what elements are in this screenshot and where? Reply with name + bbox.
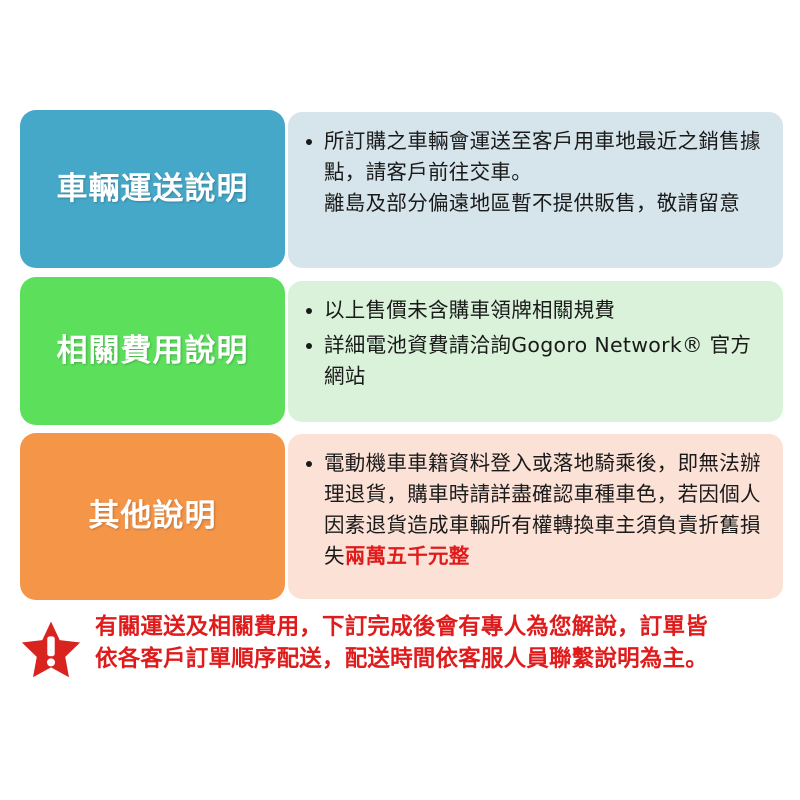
bullet-list: 電動機車車籍資料登入或落地騎乘後，即無法辦理退貨，購車時請詳盡確認車種車色，若因… xyxy=(302,448,767,573)
note-line: 離島及部分偏遠地區暫不提供販售，敬請留意 xyxy=(302,188,767,219)
section-label-shipping: 車輛運送說明 xyxy=(20,110,285,268)
list-item: 所訂購之車輛會運送至客戶用車地最近之銷售據點，請客戶前往交車。 xyxy=(302,126,767,188)
section-label-text: 相關費用說明 xyxy=(57,336,249,367)
section-content-shipping: 所訂購之車輛會運送至客戶用車地最近之銷售據點，請客戶前往交車。 離島及部分偏遠地… xyxy=(288,112,783,268)
star-warning-icon xyxy=(20,619,82,681)
list-item: 詳細電池資費請洽詢Gogoro Network® 官方網站 xyxy=(302,330,767,392)
bullet-list: 所訂購之車輛會運送至客戶用車地最近之銷售據點，請客戶前往交車。 xyxy=(302,126,767,188)
list-item: 以上售價未含購車領牌相關規費 xyxy=(302,295,767,326)
section-label-text: 車輛運送說明 xyxy=(57,174,249,205)
penalty-amount-highlight: 兩萬五千元整 xyxy=(345,544,470,568)
section-content-fees: 以上售價未含購車領牌相關規費 詳細電池資費請洽詢Gogoro Network® … xyxy=(288,281,783,422)
notice-line-1: 有關運送及相關費用，下訂完成後會有專人為您解說，訂單皆 xyxy=(95,612,785,644)
bullet-list: 以上售價未含購車領牌相關規費 詳細電池資費請洽詢Gogoro Network® … xyxy=(302,295,767,392)
section-label-other: 其他說明 xyxy=(20,433,285,600)
promo-info-page: 車輛運送說明 所訂購之車輛會運送至客戶用車地最近之銷售據點，請客戶前往交車。 離… xyxy=(0,0,800,800)
section-content-other: 電動機車車籍資料登入或落地騎乘後，即無法辦理退貨，購車時請詳盡確認車種車色，若因… xyxy=(288,434,783,599)
section-label-fees: 相關費用說明 xyxy=(20,277,285,425)
list-item: 電動機車車籍資料登入或落地騎乘後，即無法辦理退貨，購車時請詳盡確認車種車色，若因… xyxy=(302,448,767,573)
notice-text: 有關運送及相關費用，下訂完成後會有專人為您解說，訂單皆 依各客戶訂單順序配送，配… xyxy=(95,612,785,676)
notice-line-2: 依各客戶訂單順序配送，配送時間依客服人員聯繫說明為主。 xyxy=(95,644,785,676)
section-label-text: 其他說明 xyxy=(89,501,217,532)
